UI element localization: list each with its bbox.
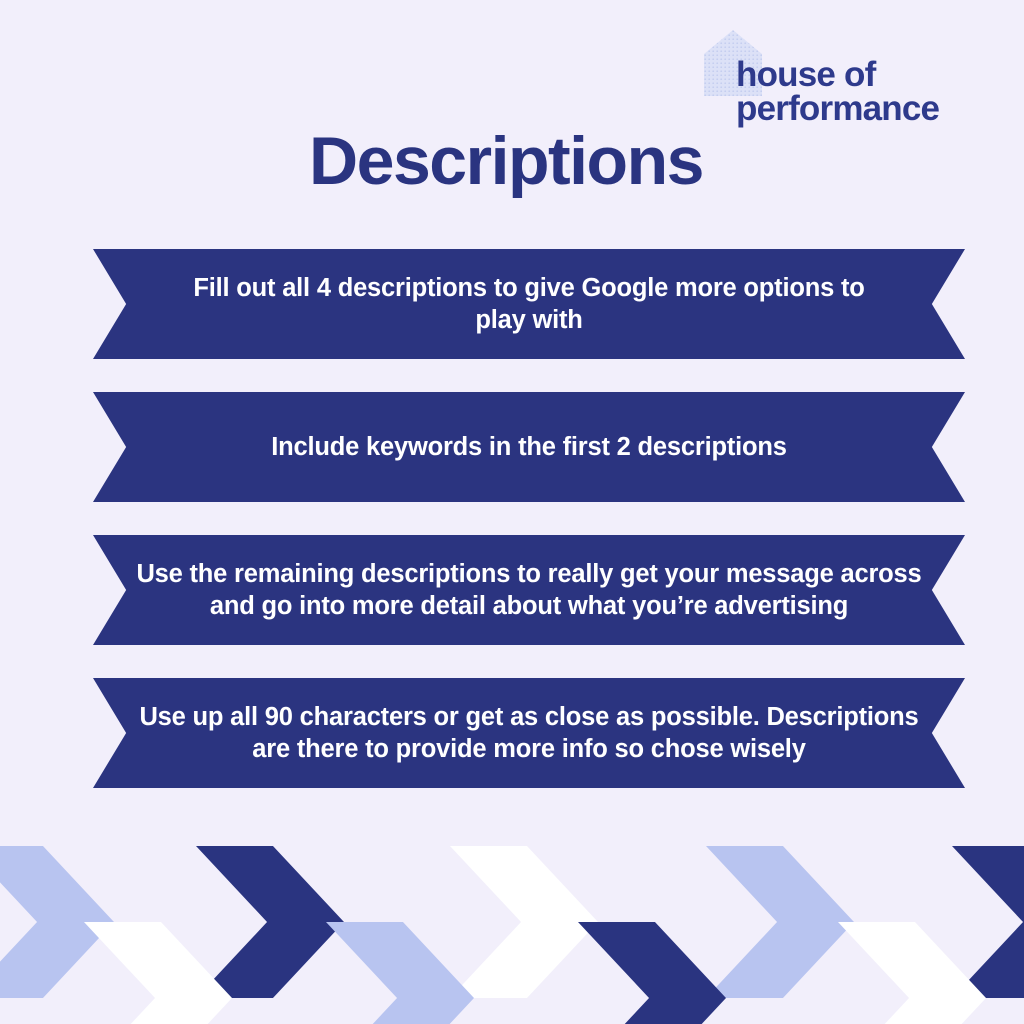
- chevron-shape: [706, 846, 854, 998]
- ribbon-banner-2-text: Include keywords in the first 2 descript…: [179, 431, 879, 463]
- chevron-band: [0, 840, 1024, 1024]
- chevron-shape: [84, 922, 232, 1024]
- chevron-shape: [578, 922, 726, 1024]
- ribbon-banner-4-text: Use up all 90 characters or get as close…: [119, 701, 939, 765]
- ribbon-banner-2: Include keywords in the first 2 descript…: [93, 392, 965, 502]
- chevron-shape: [450, 846, 598, 998]
- page-title: Descriptions: [0, 122, 1024, 200]
- ribbon-banner-4: Use up all 90 characters or get as close…: [93, 678, 965, 788]
- ribbon-banner-1: Fill out all 4 descriptions to give Goog…: [93, 249, 965, 359]
- brand-wordmark: house of performance: [736, 58, 998, 127]
- ribbon-banner-3: Use the remaining descriptions to really…: [93, 535, 965, 645]
- brand-line-1: house of: [736, 55, 875, 94]
- brand-logo: house of performance: [700, 24, 1000, 134]
- chevron-shape: [326, 922, 474, 1024]
- chevron-shape: [196, 846, 344, 998]
- ribbon-banner-3-text: Use the remaining descriptions to really…: [134, 558, 924, 622]
- ribbon-banner-1-text: Fill out all 4 descriptions to give Goog…: [179, 272, 879, 336]
- chevron-shape: [838, 922, 986, 1024]
